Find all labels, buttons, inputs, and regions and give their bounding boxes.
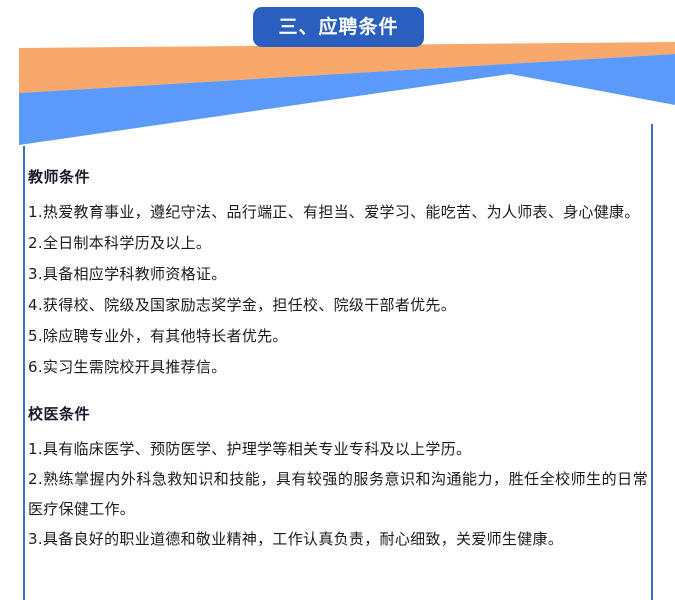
section-teacher-requirements: 教师条件 1.热爱教育事业，遵纪守法、品行端正、有担当、爱学习、能吃苦、为人师表… <box>28 166 648 383</box>
section-school-doctor-requirements: 校医条件 1.具有临床医学、预防医学、护理学等相关专业专科及以上学历。 2.熟练… <box>28 403 648 554</box>
section-teacher-heading: 教师条件 <box>28 166 648 188</box>
list-item: 5.除应聘专业外，有其他特长者优先。 <box>28 321 648 352</box>
section-school-doctor-heading: 校医条件 <box>28 403 648 425</box>
section-teacher-list: 1.热爱教育事业，遵纪守法、品行端正、有担当、爱学习、能吃苦、为人师表、身心健康… <box>28 197 648 383</box>
list-item: 4.获得校、院级及国家励志奖学金，担任校、院级干部者优先。 <box>28 290 648 321</box>
section-title-text: 三、应聘条件 <box>278 18 398 37</box>
section-school-doctor-list: 1.具有临床医学、预防医学、护理学等相关专业专科及以上学历。 2.熟练掌握内外科… <box>28 434 648 554</box>
right-border-rule <box>651 124 653 600</box>
list-item: 3.具备良好的职业道德和敬业精神，工作认真负责，耐心细致，关爱师生健康。 <box>28 524 648 554</box>
list-item: 1.具有临床医学、预防医学、护理学等相关专业专科及以上学历。 <box>28 434 648 464</box>
list-item: 1.热爱教育事业，遵纪守法、品行端正、有担当、爱学习、能吃苦、为人师表、身心健康… <box>28 197 648 228</box>
list-item: 3.具备相应学科教师资格证。 <box>28 259 648 290</box>
requirements-content: 教师条件 1.热爱教育事业，遵纪守法、品行端正、有担当、爱学习、能吃苦、为人师表… <box>28 166 648 554</box>
list-item: 2.熟练掌握内外科急救知识和技能，具有较强的服务意识和沟通能力，胜任全校师生的日… <box>28 464 648 524</box>
banner-shapes <box>0 42 675 150</box>
list-item: 6.实习生需院校开具推荐信。 <box>28 352 648 383</box>
section-title-badge: 三、应聘条件 <box>253 7 424 47</box>
list-item: 2.全日制本科学历及以上。 <box>28 228 648 259</box>
decorative-banner <box>0 42 675 150</box>
left-border-rule <box>23 146 25 600</box>
